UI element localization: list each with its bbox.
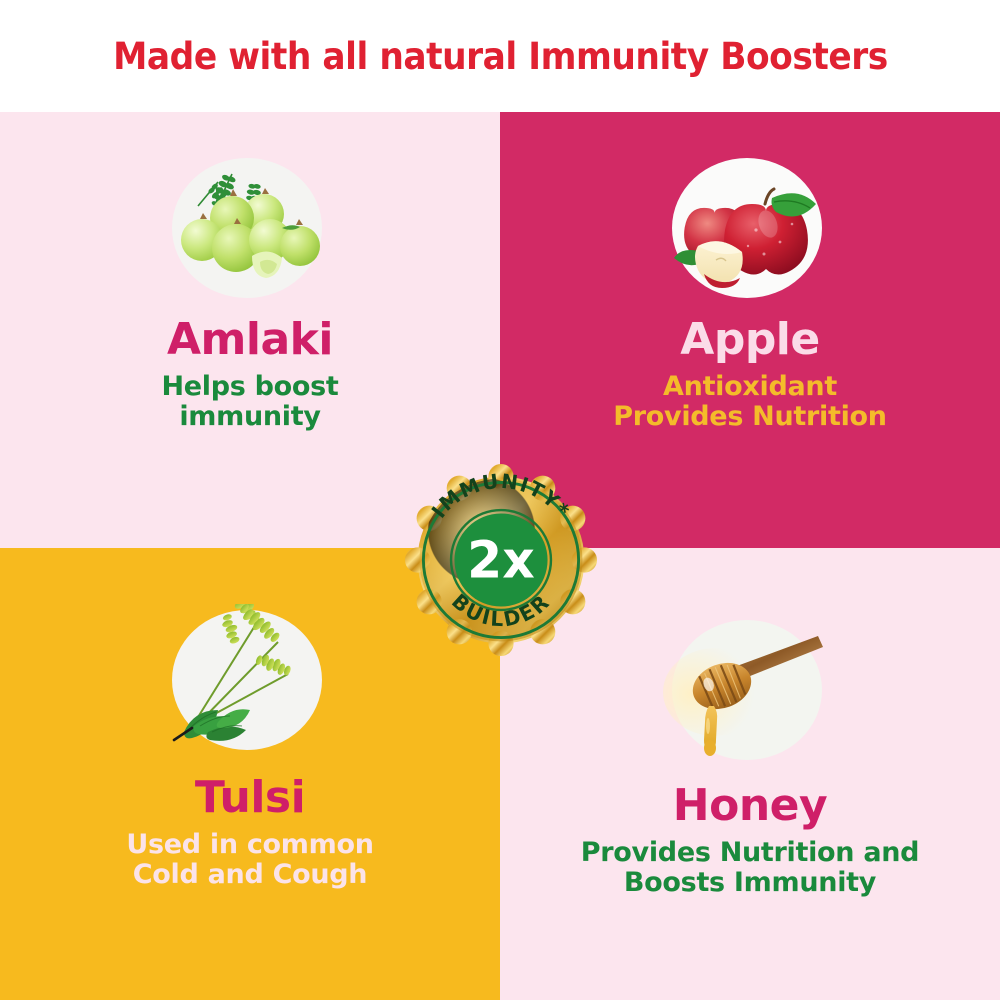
immunity-boosters-infographic: Made with all natural Immunity Boosters: [0, 0, 1000, 1000]
apple-title: Apple: [680, 318, 819, 362]
tulsi-subtitle: Used in common Cold and Cough: [114, 830, 385, 890]
tulsi-subtitle-line2: Cold and Cough: [126, 860, 373, 890]
amlaki-subtitle-line1: Helps boost: [161, 372, 338, 402]
page-title: Made with all natural Immunity Boosters: [113, 35, 888, 78]
tulsi-holy-basil-image: [160, 604, 340, 754]
tulsi-subtitle-line1: Used in common: [126, 830, 373, 860]
apple-fruit-image: [660, 152, 840, 302]
tulsi-medallion: [160, 604, 340, 754]
badge-center-text: 2x: [467, 531, 535, 590]
honey-title: Honey: [673, 784, 827, 828]
amlaki-title: Amlaki: [167, 318, 333, 362]
honey-subtitle-line1: Provides Nutrition and: [581, 838, 919, 868]
honey-subtitle: Provides Nutrition and Boosts Immunity: [569, 838, 931, 898]
apple-subtitle-line2: Provides Nutrition: [613, 402, 886, 432]
immunity-builder-badge: IMMUNITY* BUILDER 2x: [404, 462, 598, 658]
amlaki-subtitle-line2: immunity: [161, 402, 338, 432]
amlaki-subtitle: Helps boost immunity: [149, 372, 350, 432]
header-banner: Made with all natural Immunity Boosters: [0, 0, 1000, 112]
tulsi-title: Tulsi: [195, 776, 305, 820]
apple-medallion: [660, 152, 840, 302]
honey-medallion: [660, 614, 840, 764]
honey-subtitle-line2: Boosts Immunity: [581, 868, 919, 898]
amlaki-gooseberries-image: [160, 152, 340, 302]
honey-dipper-image: [660, 614, 840, 764]
apple-subtitle: Antioxidant Provides Nutrition: [601, 372, 898, 432]
amlaki-medallion: [160, 152, 340, 302]
apple-subtitle-line1: Antioxidant: [613, 372, 886, 402]
